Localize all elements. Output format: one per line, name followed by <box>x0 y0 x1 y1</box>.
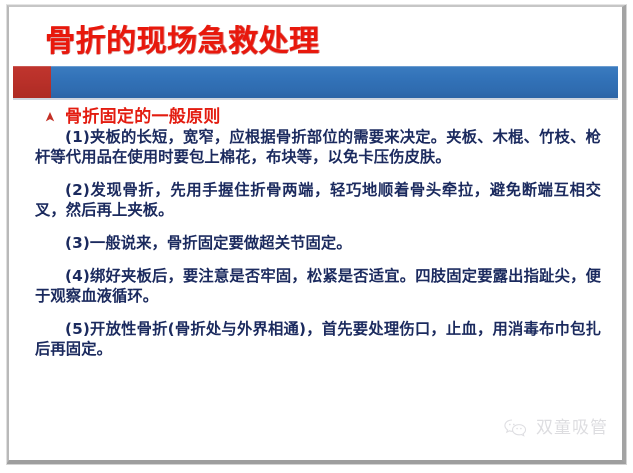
body-paragraph-4: (4)绑好夹板后，要注意是否牢固，松紧是否适宜。四肢固定要露出指趾尖，便于观察血… <box>35 266 601 306</box>
bullet-heading: 骨折固定的一般原则 <box>43 107 221 127</box>
header-bar-accent-block <box>13 66 51 98</box>
body-paragraph-5: (5)开放性骨折(骨折处与外界相通)，首先要处理伤口，止血，用消毒布巾包扎后再固… <box>35 319 601 359</box>
watermark-label: 双童吸管 <box>536 418 608 438</box>
bullet-heading-label: 骨折固定的一般原则 <box>65 107 221 127</box>
body-paragraph-2: (2)发现骨折，先用手握住折骨两端，轻巧地顺着骨头牵拉，避免断端互相交叉，然后再… <box>35 180 601 220</box>
slide-frame: 骨折的现场急救处理 骨折固定的一般原则 (1)夹板的长短，宽窄，应根据骨折部位的… <box>0 0 633 473</box>
body-paragraph-3: (3)一般说来，骨折固定要做超关节固定。 <box>35 233 601 253</box>
slide-canvas: 骨折的现场急救处理 骨折固定的一般原则 (1)夹板的长短，宽窄，应根据骨折部位的… <box>9 7 622 460</box>
triangle-arrow-icon <box>43 110 57 124</box>
header-bar <box>13 66 618 98</box>
body-content: (1)夹板的长短，宽窄，应根据骨折部位的需要来决定。夹板、木棍、竹枝、枪杆等代用… <box>35 127 601 359</box>
header-bar-underline <box>13 98 618 100</box>
body-paragraph-1: (1)夹板的长短，宽窄，应根据骨折部位的需要来决定。夹板、木棍、竹枝、枪杆等代用… <box>35 127 601 167</box>
wechat-logo-icon <box>503 418 529 438</box>
page-title: 骨折的现场急救处理 <box>45 25 320 59</box>
watermark: 双童吸管 <box>503 418 608 438</box>
